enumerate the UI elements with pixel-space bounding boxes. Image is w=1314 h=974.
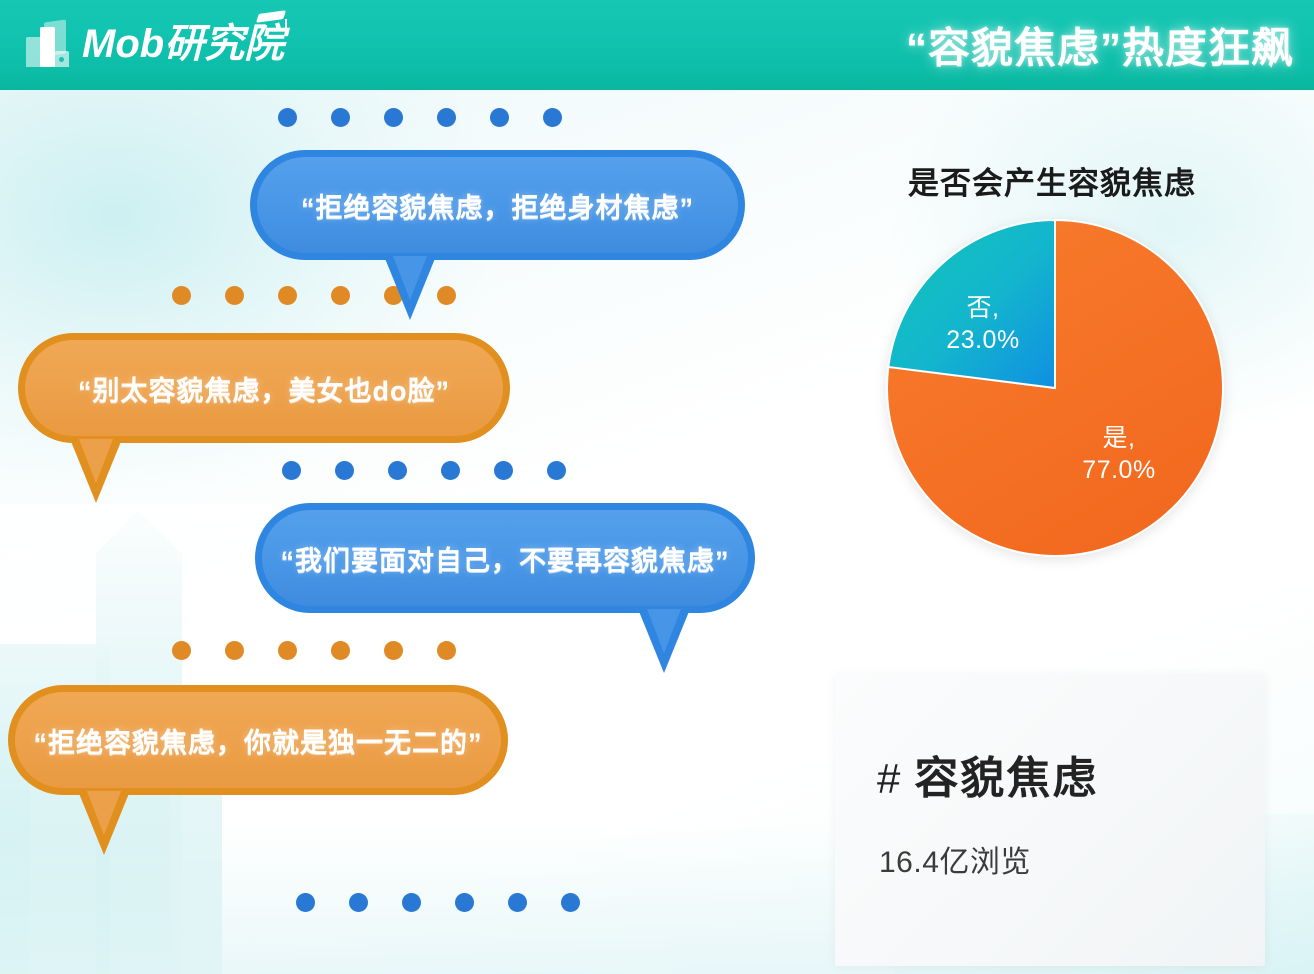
decor-dot [384,108,403,127]
hashtag-topic: 容貌焦虑 [914,754,1098,803]
quote-bubble-text: “拒绝容貌焦虑，你就是独一无二的” [34,721,483,760]
quote-bubble-tail [78,791,130,855]
decor-dot [402,893,421,912]
quote-bubble[interactable]: “别太容貌焦虑，美女也do脸” [18,333,510,443]
hash-icon: # [877,755,914,802]
graduation-cap-icon [258,10,288,26]
quote-bubble-text: “拒绝容貌焦虑，拒绝身材焦虑” [301,186,694,225]
brand-logo[interactable]: Mob研究院 [22,8,284,80]
quote-bubble-text: “别太容貌焦虑，美女也do脸” [78,369,450,408]
decor-dot [172,641,191,660]
dot-row-third [282,461,566,480]
decor-dot [561,893,580,912]
quote-bubble[interactable]: “拒绝容貌焦虑，拒绝身材焦虑” [250,150,745,260]
dot-row-fourth [172,641,456,660]
decor-dot [278,286,297,305]
slide-root: Mob研究院 “容貌焦虑”热度狂飙 “拒绝容貌焦虑，拒绝身材焦虑”“别太容貌焦虑… [0,0,1314,974]
quote-bubble[interactable]: “拒绝容貌焦虑，你就是独一无二的” [8,685,508,795]
decor-dot [437,641,456,660]
decor-dot [282,461,301,480]
decor-dot [335,461,354,480]
decor-dot [172,286,191,305]
decor-dot [455,893,474,912]
decor-dot [441,461,460,480]
decor-dot [331,108,350,127]
quote-bubble[interactable]: “我们要面对自己，不要再容貌焦虑” [255,503,755,613]
decor-dot [349,893,368,912]
pie-chart-svg [885,218,1225,558]
decor-dot [225,641,244,660]
decor-dot [225,286,244,305]
hashtag-views: 16.4亿浏览 [879,837,1031,881]
decor-dot [388,461,407,480]
page-title: “容貌焦虑”热度狂飙 [906,15,1294,76]
decor-dot [547,461,566,480]
decor-dot [494,461,513,480]
decor-dot [508,893,527,912]
pie-chart: 否, 23.0% 是, 77.0% [885,218,1225,558]
decor-dot [331,641,350,660]
decor-dot [331,286,350,305]
quotes-panel: “拒绝容貌焦虑，拒绝身材焦虑”“别太容貌焦虑，美女也do脸”“我们要面对自己，不… [0,90,790,974]
quote-bubble-tail [638,609,690,673]
decor-dot [490,108,509,127]
decor-dot [543,108,562,127]
stats-panel: 是否会产生容貌焦虑 [790,90,1314,974]
dot-row-bottom [296,893,580,912]
quote-bubble-tail [384,256,436,320]
dot-row-top [278,108,562,127]
quote-bubble-tail [70,439,122,503]
chart-title: 是否会产生容貌焦虑 [790,158,1314,203]
pie-slice-no[interactable] [888,220,1055,388]
decor-dot [296,893,315,912]
decor-dot [278,641,297,660]
decor-dot [437,108,456,127]
brand-logo-text: Mob研究院 [82,24,284,64]
building-blocks-icon [22,17,78,71]
hashtag-title: #容貌焦虑 [877,742,1098,806]
page-header: Mob研究院 “容貌焦虑”热度狂飙 [0,0,1314,90]
decor-dot [278,108,297,127]
decor-dot [384,641,403,660]
decor-dot [437,286,456,305]
quote-bubble-text: “我们要面对自己，不要再容貌焦虑” [281,539,730,578]
hashtag-card[interactable]: #容貌焦虑 16.4亿浏览 [835,674,1265,966]
